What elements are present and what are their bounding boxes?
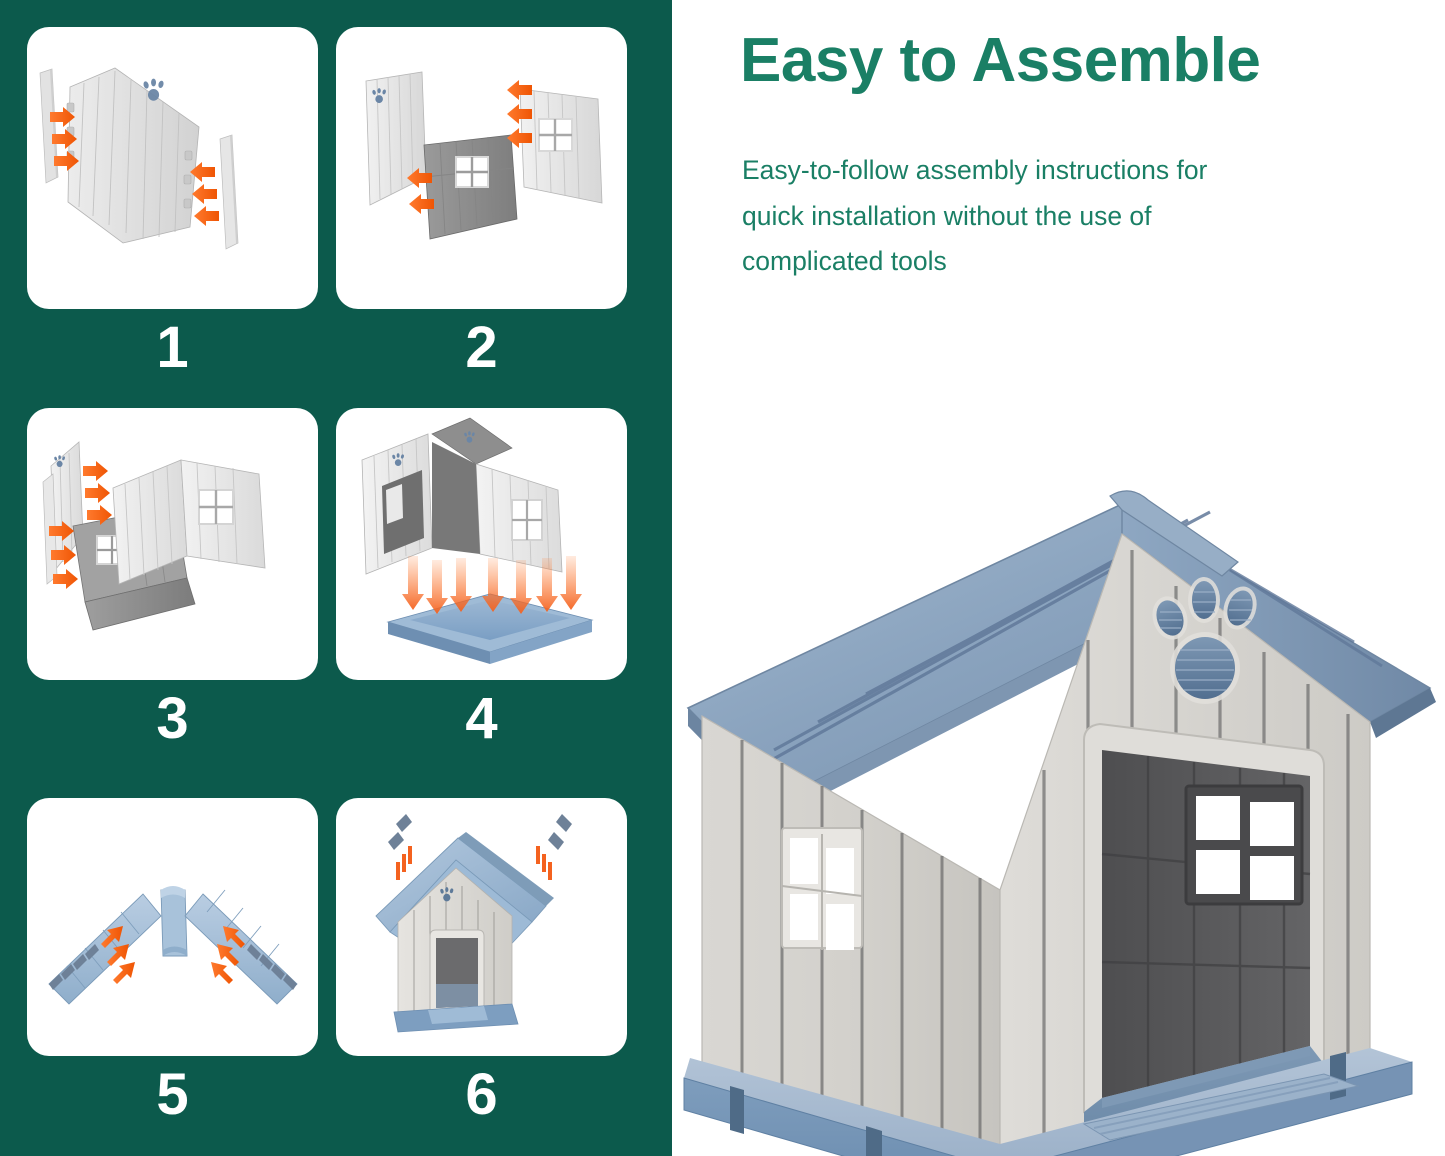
step-card-6 xyxy=(336,798,627,1056)
step-2-illustration xyxy=(336,27,627,309)
step-1-illustration xyxy=(27,27,318,309)
step-cell-1: 1 xyxy=(27,27,336,408)
step-number-1: 1 xyxy=(27,309,318,387)
trim-strip-right xyxy=(220,135,238,249)
step-number-4: 4 xyxy=(336,680,627,758)
assembly-arrow xyxy=(507,80,532,148)
ridge-cap xyxy=(161,886,187,956)
assembly-steps-panel: 1 xyxy=(0,0,672,1156)
description-line-2: quick installation without the use of xyxy=(742,194,1414,240)
step-card-5 xyxy=(27,798,318,1056)
window xyxy=(456,157,488,187)
product-image-dog-house xyxy=(670,450,1445,1156)
step-3-illustration xyxy=(27,408,318,680)
step-4-illustration xyxy=(336,408,627,680)
front-gable-panel xyxy=(43,442,83,584)
step-number-6: 6 xyxy=(336,1056,627,1134)
side-window xyxy=(782,828,862,950)
step-card-2 xyxy=(336,27,627,309)
step-card-3 xyxy=(27,408,318,680)
step-card-1 xyxy=(27,27,318,309)
page-title: Easy to Assemble xyxy=(740,28,1400,95)
step-cell-6: 6 xyxy=(336,798,645,1129)
front-lower-wall-panel xyxy=(424,135,517,239)
step-5-illustration xyxy=(27,798,318,1056)
door-opening xyxy=(430,930,484,1012)
roof-panel-left xyxy=(49,894,161,1004)
window xyxy=(539,119,572,151)
assembly-arrow xyxy=(49,521,78,589)
side-wall-panel xyxy=(520,89,602,203)
step-number-5: 5 xyxy=(27,1056,318,1134)
step-card-4 xyxy=(336,408,627,680)
door-opening xyxy=(1084,724,1324,1124)
step-cell-5: 5 xyxy=(27,798,336,1129)
window xyxy=(199,490,233,524)
step-cell-2: 2 xyxy=(336,27,645,408)
description-line-1: Easy-to-follow assembly instructions for xyxy=(742,148,1414,194)
back-panel xyxy=(67,68,199,243)
door-window xyxy=(1186,786,1302,904)
steps-grid: 1 xyxy=(27,27,645,1129)
side-wall-panel-right xyxy=(181,460,265,568)
description-line-3: complicated tools xyxy=(742,239,1414,285)
product-highlight-section: Easy to Assemble Easy-to-follow assembly… xyxy=(672,0,1445,1156)
description-text: Easy-to-follow assembly instructions for… xyxy=(742,148,1414,285)
assembly-arrow xyxy=(83,461,112,525)
step-number-2: 2 xyxy=(336,309,627,387)
step-number-3: 3 xyxy=(27,680,318,758)
step-6-illustration xyxy=(336,798,627,1056)
assembled-walls xyxy=(362,418,562,574)
step-cell-4: 4 xyxy=(336,408,645,798)
window xyxy=(512,500,542,540)
assembly-arrow xyxy=(190,162,219,226)
step-cell-3: 3 xyxy=(27,408,336,798)
